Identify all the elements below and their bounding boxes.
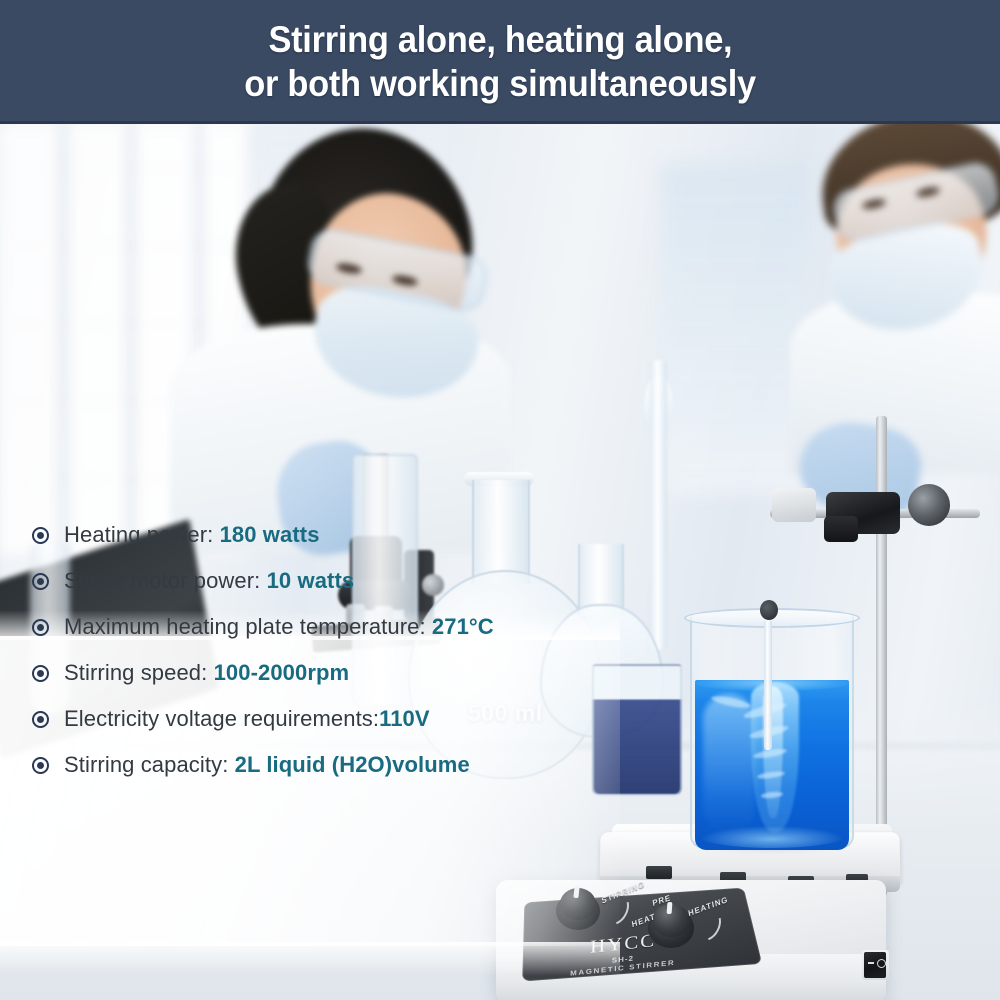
spec-value-text: 271°C [432,614,494,639]
bullet-icon [32,757,49,774]
spec-value-text: 2L liquid (H2O)volume [235,752,470,777]
power-on-mark-icon [868,962,874,964]
spec-label-text: Heating power: [64,522,220,547]
power-off-mark-icon [877,959,886,968]
spec-label-text: Stirring capacity: [64,752,235,777]
spec-value-text: 180 watts [220,522,320,547]
liquid-bottom-glow [701,826,843,848]
hotplate-vent [646,866,672,879]
background-scientist [790,124,1000,454]
spec-label: Stirring capacity: 2L liquid (H2O)volume [64,752,470,778]
thermometer-probe [764,620,772,750]
clamp-grip [824,516,858,542]
spec-label: Stirrer motor power: 10 watts [64,568,354,594]
spec-label-text: Electricity voltage requirements: [64,706,379,731]
product-feature-image: 500 ml HYCC SH-2 MAGNETIC STIRRER [0,0,1000,1000]
beaker-glass [690,614,854,848]
bullet-icon [32,527,49,544]
beaker-with-blue-liquid [690,606,850,846]
spec-label-text: Stirrer motor power: [64,568,267,593]
specification-list: Heating power: 180 watts Stirrer motor p… [0,512,700,788]
spec-value-text: 10 watts [267,568,355,593]
bullet-icon [32,665,49,682]
spec-label: Heating power: 180 watts [64,522,320,548]
clamp-jaw [772,488,816,522]
header-title-line-2: or both working simultaneously [244,62,756,106]
probe-tip [760,600,778,620]
header-title-line-1: Stirring alone, heating alone, [268,18,732,62]
header-banner: Stirring alone, heating alone, or both w… [0,0,1000,124]
bullet-icon [32,619,49,636]
bullet-icon [32,573,49,590]
blue-liquid [695,680,849,850]
list-item: Stirring speed: 100-2000rpm [0,650,700,696]
lab-shelf [660,164,810,494]
list-item: Electricity voltage requirements:110V [0,696,700,742]
list-item: Stirring capacity: 2L liquid (H2O)volume [0,742,700,788]
clamp-boss-head [908,484,950,526]
list-item: Heating power: 180 watts [0,512,700,558]
spec-label: Stirring speed: 100-2000rpm [64,660,349,686]
bullet-icon [32,711,49,728]
spec-label: Electricity voltage requirements:110V [64,706,430,732]
spec-label-text: Maximum heating plate temperature: [64,614,432,639]
spec-value-text: 110V [379,706,430,731]
spec-label-text: Stirring speed: [64,660,214,685]
spec-label: Maximum heating plate temperature: 271°C [64,614,494,640]
list-item: Stirrer motor power: 10 watts [0,558,700,604]
heating-knob-indicator [667,902,673,914]
spec-value-text: 100-2000rpm [214,660,350,685]
list-item: Maximum heating plate temperature: 271°C [0,604,700,650]
